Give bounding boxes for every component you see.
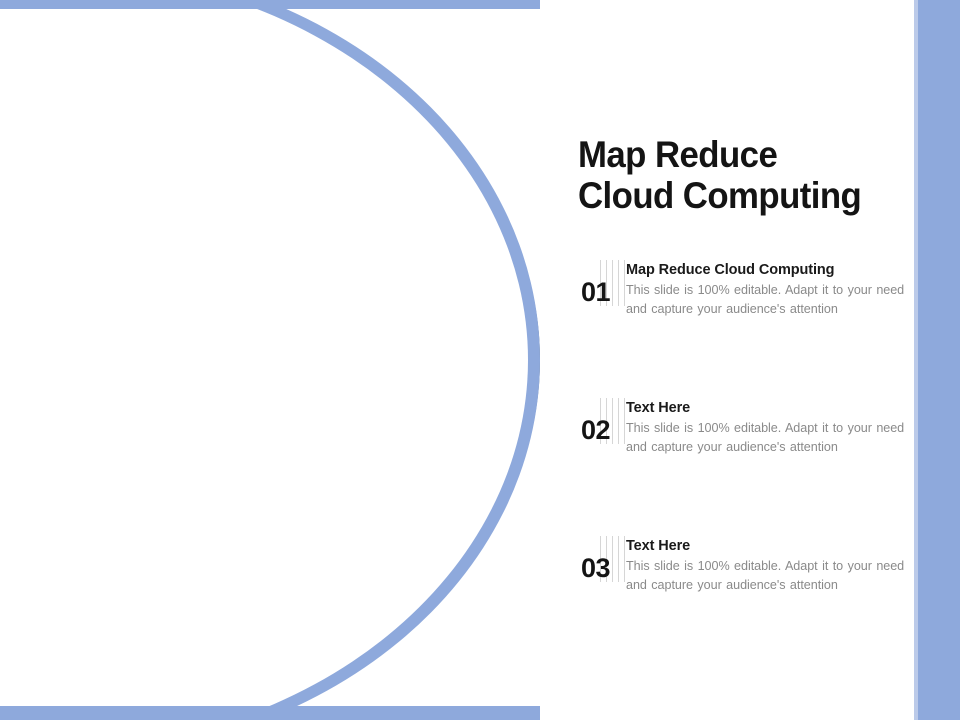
item-body: Text Here This slide is 100% editable. A…	[626, 400, 908, 456]
item-number: 01	[581, 277, 610, 308]
list-item[interactable]: 03 Text Here This slide is 100% editable…	[578, 534, 908, 672]
arc-inner-mask	[0, 0, 528, 720]
item-number: 02	[581, 415, 610, 446]
right-accent-bar	[918, 0, 960, 720]
list-item[interactable]: 02 Text Here This slide is 100% editable…	[578, 396, 908, 534]
page-title: Map Reduce Cloud Computing	[578, 134, 888, 217]
photo-bottom-accent-bar	[0, 706, 540, 720]
list-item[interactable]: 01 Map Reduce Cloud Computing This slide…	[578, 258, 908, 396]
item-text: This slide is 100% editable. Adapt it to…	[626, 557, 908, 594]
item-heading: Text Here	[626, 538, 908, 554]
item-text: This slide is 100% editable. Adapt it to…	[626, 281, 908, 318]
item-body: Map Reduce Cloud Computing This slide is…	[626, 262, 908, 318]
item-text: This slide is 100% editable. Adapt it to…	[626, 419, 908, 456]
content-column: Map Reduce Cloud Computing 01 Map Reduce…	[578, 0, 908, 720]
photo-top-accent-bar	[0, 0, 540, 9]
item-heading: Text Here	[626, 400, 908, 416]
item-number: 03	[581, 553, 610, 584]
bullet-list: 01 Map Reduce Cloud Computing This slide…	[578, 258, 908, 672]
item-body: Text Here This slide is 100% editable. A…	[626, 538, 908, 594]
page-title-line1: Map Reduce	[578, 134, 888, 175]
item-heading: Map Reduce Cloud Computing	[626, 262, 908, 278]
page-title-line2: Cloud Computing	[578, 175, 888, 216]
visual-panel: AI	[0, 0, 540, 720]
